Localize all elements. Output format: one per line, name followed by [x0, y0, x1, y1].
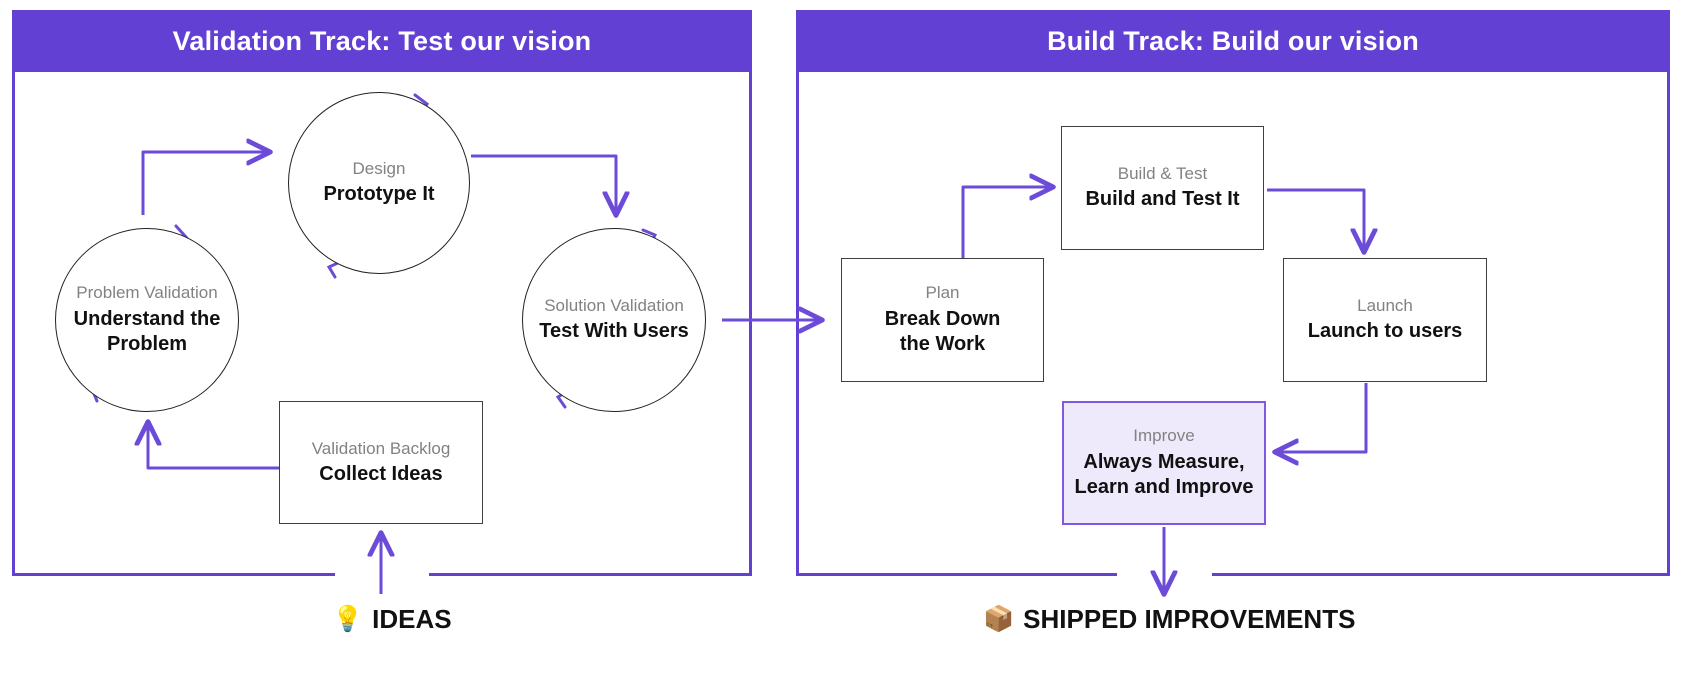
- panel-validation-bottom-border-left: [15, 573, 335, 576]
- node-plan-title: Break Down the Work: [885, 307, 1001, 358]
- node-improve-kicker: Improve: [1133, 425, 1194, 446]
- panel-build-bottom-border-left: [799, 573, 1117, 576]
- endpoint-ideas-label: IDEAS: [372, 604, 451, 635]
- panel-build-track-title: Build Track: Build our vision: [796, 10, 1670, 72]
- package-icon: 📦: [983, 607, 1014, 632]
- node-problem-validation-kicker: Problem Validation: [76, 282, 217, 303]
- node-launch-title: Launch to users: [1308, 319, 1462, 345]
- panel-validation-bottom-border-right: [429, 573, 749, 576]
- panel-validation-track-title: Validation Track: Test our vision: [12, 10, 752, 72]
- node-solution-validation-title: Test With Users: [539, 319, 688, 345]
- node-design[interactable]: Design Prototype It: [288, 92, 470, 274]
- endpoint-ideas: 💡 IDEAS: [332, 604, 452, 635]
- node-solution-validation-kicker: Solution Validation: [544, 295, 684, 316]
- node-problem-validation[interactable]: Problem Validation Understand the Proble…: [55, 228, 239, 412]
- node-plan-kicker: Plan: [925, 282, 959, 303]
- node-problem-validation-title: Understand the Problem: [74, 307, 221, 358]
- node-plan[interactable]: Plan Break Down the Work: [841, 258, 1044, 382]
- node-improve[interactable]: Improve Always Measure, Learn and Improv…: [1062, 401, 1266, 525]
- node-design-title: Prototype It: [323, 182, 434, 208]
- node-validation-backlog-title: Collect Ideas: [319, 462, 442, 488]
- endpoint-shipped-improvements: 📦 SHIPPED IMPROVEMENTS: [983, 604, 1355, 635]
- lightbulb-icon: 💡: [332, 607, 363, 632]
- endpoint-shipped-improvements-label: SHIPPED IMPROVEMENTS: [1023, 604, 1355, 635]
- node-build-and-test-title: Build and Test It: [1085, 187, 1239, 213]
- node-solution-validation[interactable]: Solution Validation Test With Users: [522, 228, 706, 412]
- node-launch-kicker: Launch: [1357, 295, 1413, 316]
- node-launch[interactable]: Launch Launch to users: [1283, 258, 1487, 382]
- panel-build-bottom-border-right: [1212, 573, 1667, 576]
- node-design-kicker: Design: [353, 158, 406, 179]
- node-improve-title: Always Measure, Learn and Improve: [1075, 450, 1254, 501]
- node-build-and-test[interactable]: Build & Test Build and Test It: [1061, 126, 1264, 250]
- diagram-canvas: Validation Track: Test our vision Build …: [0, 0, 1682, 692]
- node-build-and-test-kicker: Build & Test: [1118, 163, 1207, 184]
- node-validation-backlog[interactable]: Validation Backlog Collect Ideas: [279, 401, 483, 524]
- node-validation-backlog-kicker: Validation Backlog: [312, 438, 451, 459]
